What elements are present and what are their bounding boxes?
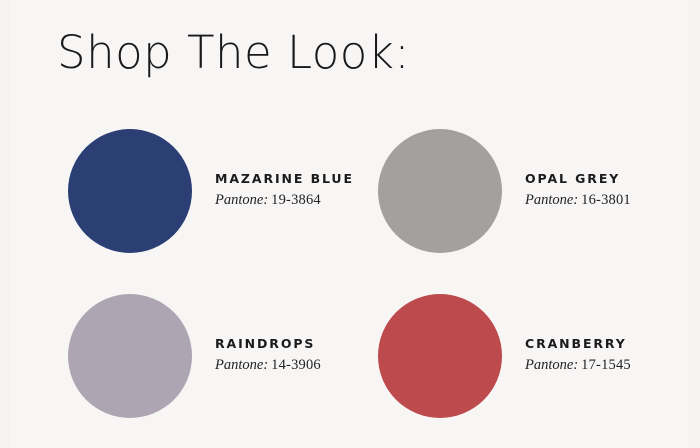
swatch-code: Pantone:16-3801 bbox=[525, 193, 631, 209]
swatch-text-block: OPAL GREY Pantone:16-3801 bbox=[525, 172, 631, 209]
swatch-text-block: CRANBERRY Pantone:17-1545 bbox=[525, 337, 631, 374]
swatch-code-value: 17-1545 bbox=[581, 357, 631, 373]
swatch-code: Pantone:19-3864 bbox=[215, 193, 354, 209]
color-swatch-circle[interactable] bbox=[68, 129, 192, 253]
swatch-name: RAINDROPS bbox=[215, 337, 321, 351]
shop-the-look-card: Shop The Look: MAZARINE BLUE Pantone:19-… bbox=[0, 0, 700, 448]
swatch-name: CRANBERRY bbox=[525, 337, 631, 351]
color-swatch-circle[interactable] bbox=[68, 294, 192, 418]
swatch-code-label: Pantone: bbox=[525, 192, 578, 208]
swatch-item-cranberry[interactable]: CRANBERRY Pantone:17-1545 bbox=[378, 273, 688, 438]
swatch-code: Pantone:17-1545 bbox=[525, 358, 631, 374]
color-swatch-circle[interactable] bbox=[378, 129, 502, 253]
swatch-name: OPAL GREY bbox=[525, 172, 631, 186]
swatch-text-block: MAZARINE BLUE Pantone:19-3864 bbox=[215, 172, 354, 209]
swatch-code: Pantone:14-3906 bbox=[215, 358, 321, 374]
swatch-item-opal-grey[interactable]: OPAL GREY Pantone:16-3801 bbox=[378, 108, 688, 273]
swatch-item-raindrops[interactable]: RAINDROPS Pantone:14-3906 bbox=[68, 273, 378, 438]
swatch-name: MAZARINE BLUE bbox=[215, 172, 354, 186]
swatch-code-value: 16-3801 bbox=[581, 192, 631, 208]
card-inner-panel: Shop The Look: MAZARINE BLUE Pantone:19-… bbox=[10, 0, 688, 448]
swatch-text-block: RAINDROPS Pantone:14-3906 bbox=[215, 337, 321, 374]
swatch-code-label: Pantone: bbox=[215, 192, 268, 208]
color-swatch-grid: MAZARINE BLUE Pantone:19-3864 OPAL GREY … bbox=[10, 108, 700, 438]
swatch-code-label: Pantone: bbox=[525, 357, 578, 373]
swatch-item-mazarine-blue[interactable]: MAZARINE BLUE Pantone:19-3864 bbox=[68, 108, 378, 273]
page-title: Shop The Look: bbox=[57, 30, 410, 75]
swatch-code-value: 14-3906 bbox=[271, 357, 321, 373]
swatch-code-value: 19-3864 bbox=[271, 192, 321, 208]
swatch-code-label: Pantone: bbox=[215, 357, 268, 373]
color-swatch-circle[interactable] bbox=[378, 294, 502, 418]
